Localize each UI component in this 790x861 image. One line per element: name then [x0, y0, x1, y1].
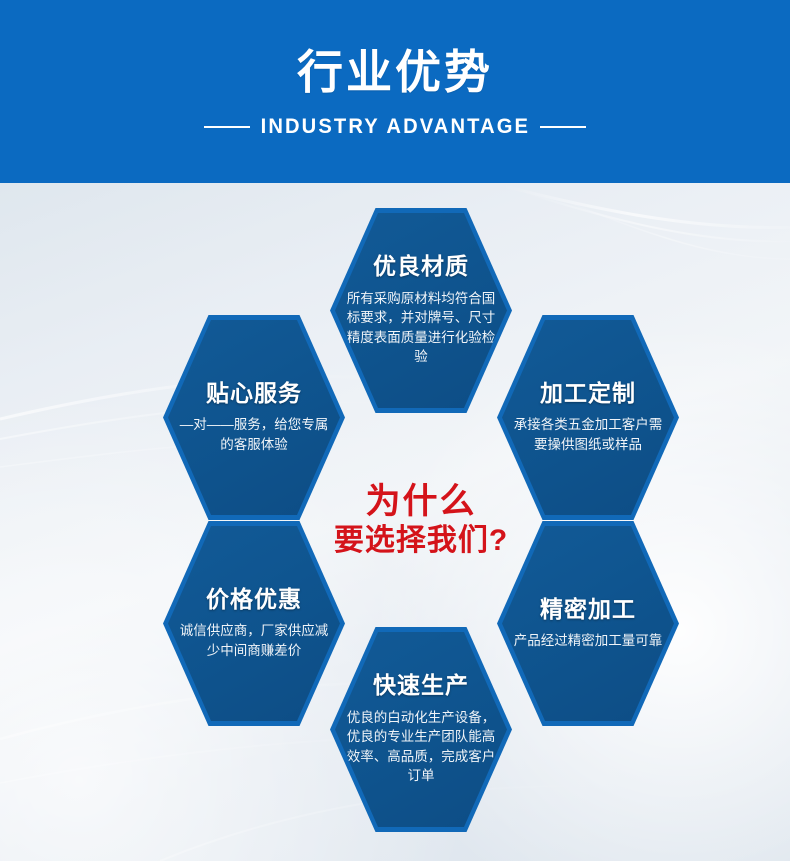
hex-card-custom-desc: 承接各类五金加工客户需要操供图纸或样品 [508, 415, 668, 454]
hex-card-custom-title: 加工定制 [540, 381, 636, 406]
center-question-line1: 为什么 [365, 481, 476, 522]
hex-card-precision-body: 精密加工 产品经过精密加工量可靠 [502, 526, 674, 721]
hex-card-price-desc: 诚信供应商，厂家供应减少中间商赚差价 [174, 621, 334, 660]
hex-card-speed-desc: 优良的白动化生产设备，优良的专业生产团队能高效率、高品质，完成客户订单 [341, 708, 501, 786]
page-header: 行业优势 INDUSTRY ADVANTAGE [0, 0, 790, 183]
industry-advantage-banner: 行业优势 INDUSTRY ADVANTAGE [0, 0, 790, 861]
hex-card-custom-body: 加工定制 承接各类五金加工客户需要操供图纸或样品 [502, 320, 674, 515]
hex-diagram-stage: 优良材质 所有采购原材料均符合国标要求，并对牌号、尺寸精度表面质量进行化验检验 … [0, 183, 790, 861]
hex-card-material-body: 优良材质 所有采购原材料均符合国标要求，并对牌号、尺寸精度表面质量进行化验检验 [335, 213, 507, 408]
hex-card-material-desc: 所有采购原材料均符合国标要求，并对牌号、尺寸精度表面质量进行化验检验 [341, 289, 501, 367]
hex-card-precision-title: 精密加工 [540, 597, 636, 622]
rule-right-icon [540, 126, 586, 128]
hex-card-service-body: 贴心服务 —对——服务，给您专属的客服体验 [168, 320, 340, 515]
hex-card-precision-desc: 产品经过精密加工量可靠 [514, 631, 663, 651]
hex-card-service-title: 贴心服务 [206, 381, 302, 406]
hex-card-service-desc: —对——服务，给您专属的客服体验 [174, 415, 334, 454]
page-subtitle: INDUSTRY ADVANTAGE [255, 115, 534, 139]
header-subtitle-group: INDUSTRY ADVANTAGE [204, 115, 587, 139]
hex-card-material-title: 优良材质 [373, 254, 469, 279]
center-question-line2: 要选择我们? [334, 522, 508, 560]
hex-card-speed-title: 快速生产 [373, 673, 469, 698]
hex-card-price-title: 价格优惠 [206, 587, 302, 612]
hex-card-price-body: 价格优惠 诚信供应商，厂家供应减少中间商赚差价 [168, 526, 340, 721]
center-question: 为什么 要选择我们? [330, 421, 512, 619]
rule-left-icon [204, 126, 250, 128]
page-title: 行业优势 [297, 49, 493, 95]
hex-card-speed-body: 快速生产 优良的白动化生产设备，优良的专业生产团队能高效率、高品质，完成客户订单 [335, 632, 507, 827]
